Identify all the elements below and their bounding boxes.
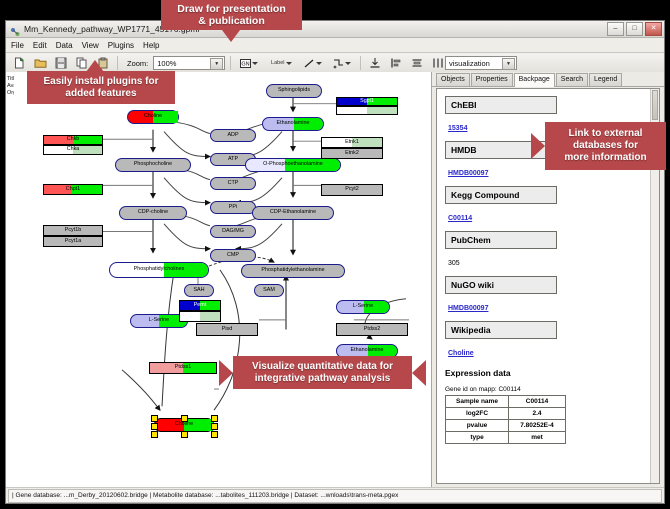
pathway-canvas-pane[interactable]: Title: Availa Organi [6, 72, 432, 488]
selection-handle[interactable] [181, 431, 188, 438]
gene-node-chpt1[interactable]: Chpt1 [43, 184, 103, 195]
line-tool[interactable] [300, 55, 326, 71]
gene-node-pcyt2[interactable]: Pcyt2 [321, 184, 383, 196]
screenshot-root: Mm_Kennedy_pathway_WP1771_45176.gpml – □… [0, 0, 670, 509]
expression-data-heading: Expression data [445, 368, 651, 378]
table-row: type met [446, 432, 566, 444]
callout-visualize-tail [219, 360, 233, 386]
db-title-kegg-compound: Kegg Compound [445, 186, 557, 204]
menubar: File Edit Data View Plugins Help [6, 38, 664, 53]
new-file-icon[interactable] [10, 54, 28, 72]
expression-key: type [446, 432, 509, 444]
expression-key: Sample name [446, 396, 509, 408]
db-title-nugo-wiki: NuGO wiki [445, 276, 557, 294]
metabolite-node-o-phosphoethanolamine[interactable]: O-Phosphoethanolamine [245, 158, 341, 172]
callout-draw-tail [222, 30, 240, 42]
align-top-icon[interactable] [366, 54, 384, 72]
expression-table: Sample name C00114 log2FC 2.4 pvalue 7.8… [445, 395, 566, 444]
callout-links: Link to external databases for more info… [545, 122, 666, 170]
selection-handle[interactable] [211, 415, 218, 422]
gene-node-etnk1[interactable]: Etnk1 [321, 137, 383, 148]
pathway-drawing[interactable]: Choline Phosphocholine CDP-choline Phosp… [14, 72, 431, 488]
selection-handle[interactable] [181, 415, 188, 422]
label-tool[interactable]: Label [265, 55, 297, 71]
expression-key: pvalue [446, 420, 509, 432]
selection-handle[interactable] [151, 431, 158, 438]
table-row: log2FC 2.4 [446, 408, 566, 420]
metabolite-node-sah[interactable]: SAH [184, 284, 214, 297]
tab-backpage[interactable]: Backpage [514, 73, 555, 87]
gene-node-ptdss2[interactable]: Ptdss2 [336, 323, 408, 336]
db-link-chebi[interactable]: 15354 [448, 125, 467, 132]
window-titlebar: Mm_Kennedy_pathway_WP1771_45176.gpml – □… [6, 21, 664, 38]
statusbar: | Gene database: ...m_Derby_20120602.bri… [6, 487, 664, 503]
metabolite-node-phosphatidylcholines[interactable]: Phosphatidylcholines [109, 262, 209, 278]
metabolite-node-cdp-choline[interactable]: CDP-choline [119, 206, 187, 220]
close-button[interactable]: ✕ [645, 22, 662, 36]
gene-node-chka[interactable]: Chka [43, 145, 103, 155]
table-row: pvalue 7.80252E-4 [446, 420, 566, 432]
gene-node-ptdss1[interactable]: Ptdss1 [149, 362, 217, 374]
expression-value: 2.4 [509, 408, 566, 420]
metabolite-node-ppi[interactable]: PPi [210, 201, 256, 214]
metabolite-node-sam[interactable]: SAM [254, 284, 284, 297]
callout-plugins: Easily install plugins for added feature… [27, 71, 175, 104]
side-panel-tabs: Objects Properties Backpage Search Legen… [432, 72, 664, 87]
gene-node-sgpl1-row2[interactable] [336, 106, 398, 115]
chevron-down-icon[interactable]: ▼ [210, 58, 223, 70]
pathvisio-icon [10, 24, 20, 34]
visualization-combobox[interactable]: visualization ▼ [445, 56, 517, 70]
gene-node-pemt[interactable]: Pemt [179, 300, 221, 311]
chevron-down-icon[interactable] [345, 62, 351, 65]
metabolite-node-ctp[interactable]: CTP [210, 177, 256, 190]
tab-properties[interactable]: Properties [471, 73, 513, 86]
align-left-icon[interactable] [387, 54, 405, 72]
label-tool-text: Label [271, 60, 284, 66]
callout-draw: Draw for presentation & publication [161, 0, 302, 30]
menu-data[interactable]: Data [56, 41, 73, 50]
metabolite-node-l-serine-right[interactable]: L-Serine [336, 300, 390, 314]
statusbar-text: | Gene database: ...m_Derby_20120602.bri… [8, 489, 662, 503]
selection-handle[interactable] [151, 415, 158, 422]
db-value-pubchem: 305 [448, 260, 460, 267]
expression-value: C00114 [509, 396, 566, 408]
scrollbar-thumb[interactable] [652, 90, 658, 120]
menu-view[interactable]: View [82, 41, 99, 50]
chevron-down-icon[interactable]: ▼ [502, 58, 515, 70]
metabolite-node-cdp-ethanolamine[interactable]: CDP-Ethanolamine [252, 206, 334, 220]
visualization-value: visualization [449, 59, 490, 68]
chevron-down-icon[interactable] [252, 62, 258, 65]
selection-handle[interactable] [151, 423, 158, 430]
menu-edit[interactable]: Edit [33, 41, 47, 50]
gene-node-pemt-row2[interactable] [179, 311, 221, 322]
svg-text:GN: GN [242, 61, 250, 67]
gene-node-chkb[interactable]: Chkb [43, 135, 103, 145]
minimize-button[interactable]: – [607, 22, 624, 36]
metabolite-node-choline-top[interactable]: Choline [127, 110, 179, 124]
db-link-hmdb[interactable]: HMDB00097 [448, 170, 488, 177]
metabolite-node-dag-mg[interactable]: DAG/MG [210, 225, 256, 238]
metabolite-node-phosphatidylethanolamine[interactable]: Phosphatidylethanolamine [241, 264, 345, 278]
gene-id-line: Gene id on mapp: C00114 [445, 386, 651, 393]
metabolite-node-adp[interactable]: ADP [210, 129, 256, 142]
menu-plugins[interactable]: Plugins [108, 41, 134, 50]
window-controls: – □ ✕ [607, 22, 662, 36]
db-title-chebi: ChEBI [445, 96, 557, 114]
db-link-wikipedia[interactable]: Choline [448, 350, 474, 357]
gene-node-pisd[interactable]: Pisd [196, 323, 258, 336]
gene-node-pcyt1a[interactable]: Pcyt1a [43, 236, 103, 247]
db-title-pubchem: PubChem [445, 231, 557, 249]
selection-handle[interactable] [211, 431, 218, 438]
chevron-down-icon[interactable] [316, 62, 322, 65]
callout-visualize-tail-right [412, 360, 426, 386]
menu-file[interactable]: File [11, 41, 24, 50]
metabolite-node-sphingolipids[interactable]: Sphingolipids [266, 84, 322, 98]
toolbar-separator [117, 56, 118, 70]
tab-search[interactable]: Search [556, 73, 588, 86]
gene-node-sgpl1[interactable]: Sgpl1 [336, 97, 398, 106]
db-link-kegg-compound[interactable]: C00114 [448, 215, 472, 222]
callout-visualize: Visualize quantitative data for integrat… [233, 356, 412, 389]
chevron-down-icon[interactable] [286, 62, 292, 65]
callout-links-tail [531, 133, 545, 159]
connector-tool[interactable] [329, 55, 355, 71]
zoom-combobox[interactable]: 100% ▼ [153, 56, 225, 70]
toolbar-separator [360, 56, 361, 70]
gene-node-etnk2[interactable]: Etnk2 [321, 148, 383, 159]
table-row: Sample name C00114 [446, 396, 566, 408]
distribute-vertical-icon[interactable] [408, 54, 426, 72]
datanode-tool[interactable]: GN [236, 55, 262, 71]
menu-help[interactable]: Help [143, 41, 159, 50]
expression-value: 7.80252E-4 [509, 420, 566, 432]
expression-key: log2FC [446, 408, 509, 420]
toolbar-separator [230, 56, 231, 70]
tab-legend[interactable]: Legend [589, 73, 622, 86]
selection-handle[interactable] [211, 423, 218, 430]
maximize-button[interactable]: □ [626, 22, 643, 36]
open-folder-icon[interactable] [31, 54, 49, 72]
metabolite-node-phosphocholine[interactable]: Phosphocholine [115, 158, 191, 172]
zoom-value: 100% [157, 59, 176, 68]
db-link-nugo-wiki[interactable]: HMDB00097 [448, 305, 488, 312]
expression-value: met [509, 432, 566, 444]
db-title-wikipedia: Wikipedia [445, 321, 557, 339]
metabolite-node-cmp[interactable]: CMP [210, 249, 256, 262]
save-icon[interactable] [52, 54, 70, 72]
metabolite-node-ethanolamine-top[interactable]: Ethanolamine [262, 117, 324, 131]
tab-objects[interactable]: Objects [436, 73, 470, 86]
gene-node-pcyt1b[interactable]: Pcyt1b [43, 225, 103, 236]
zoom-label: Zoom: [127, 59, 148, 68]
